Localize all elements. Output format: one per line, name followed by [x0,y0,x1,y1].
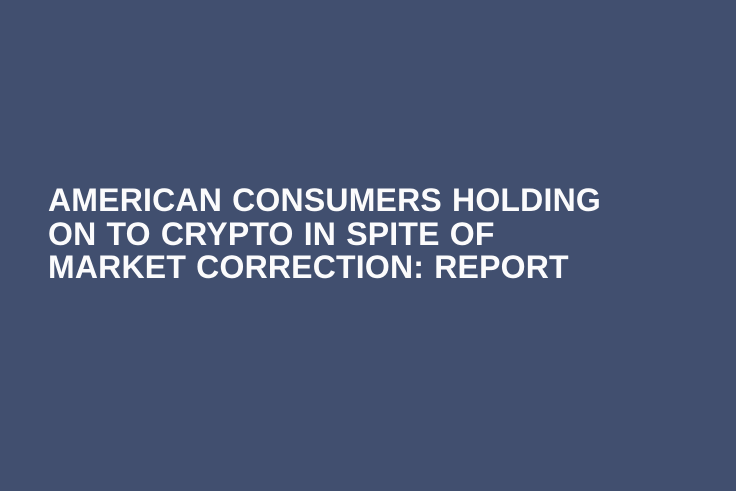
headline-line-1: AMERICAN CONSUMERS HOLDING [48,184,668,218]
article-thumbnail-card: AMERICAN CONSUMERS HOLDING ON TO CRYPTO … [0,0,736,491]
headline-line-2: ON TO CRYPTO IN SPITE OF [48,218,668,252]
headline-line-3: MARKET CORRECTION: REPORT [48,251,668,285]
page-title: AMERICAN CONSUMERS HOLDING ON TO CRYPTO … [48,184,668,285]
